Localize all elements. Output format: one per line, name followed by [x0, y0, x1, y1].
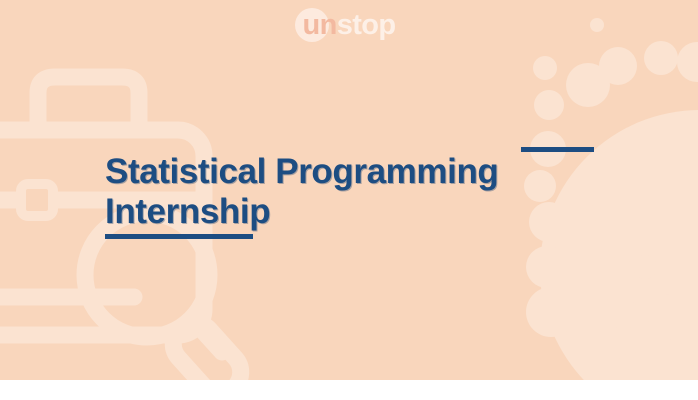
headline-block: Statistical Programming Internship [105, 152, 498, 232]
bottom-white-bar [0, 380, 698, 400]
accent-line-rule [521, 147, 594, 152]
unstop-logo-wordmark: unstop [302, 9, 395, 41]
logo-text-un: un [302, 9, 336, 41]
briefcase-clasp-icon [21, 184, 53, 216]
banner-background: unstop Statistical Programming Internshi… [0, 0, 698, 380]
title-underline-rule [105, 234, 253, 239]
unstop-logo[interactable]: unstop [0, 9, 698, 41]
page-title: Statistical Programming Internship [105, 152, 498, 232]
logo-text-stop: stop [337, 9, 396, 41]
banner-image: unstop Statistical Programming Internshi… [0, 0, 698, 400]
